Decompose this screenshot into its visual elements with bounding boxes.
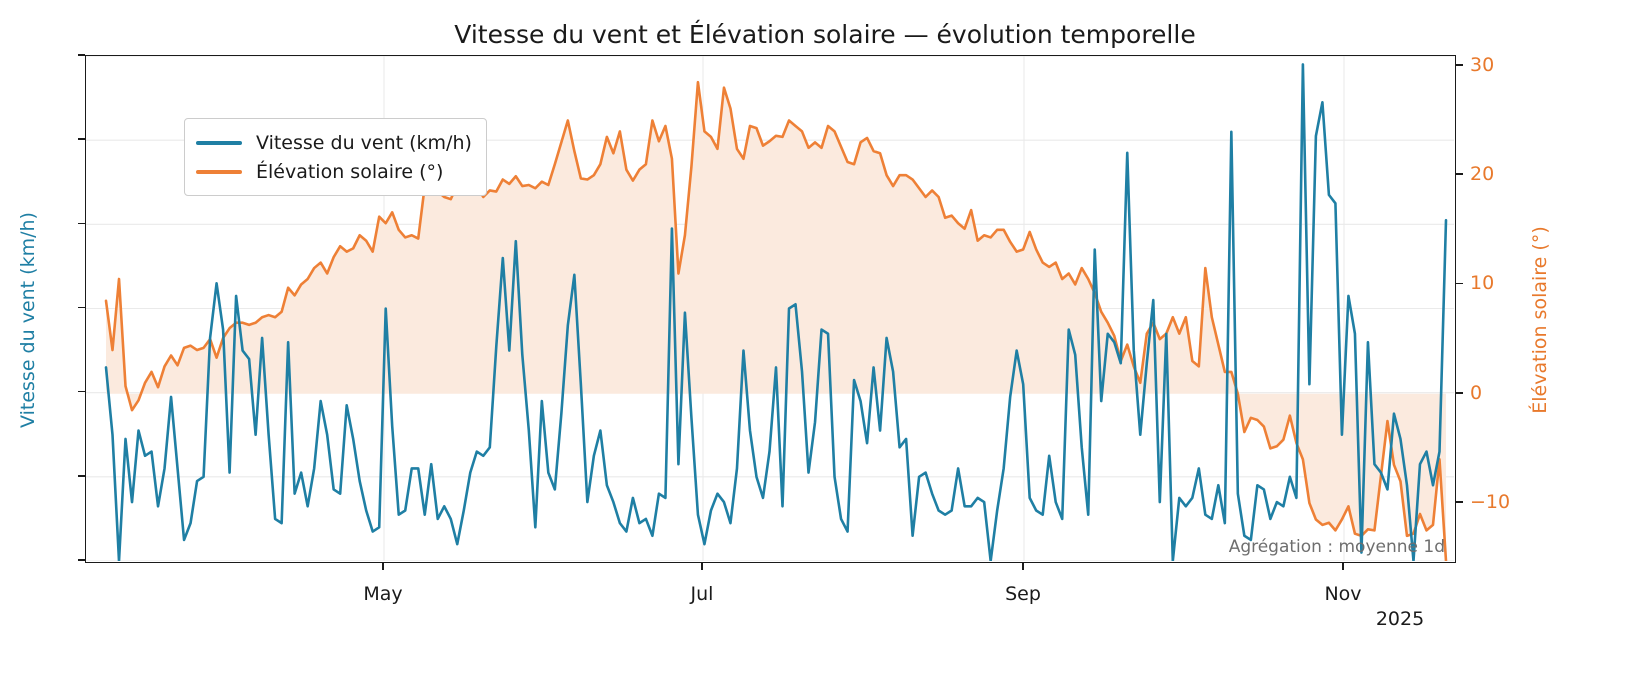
x-axis-tick-label: May [323,583,443,605]
y-axis-right-tickmark [1456,501,1463,503]
y-axis-left-tickmark [78,307,85,309]
y-axis-left-tickmark [78,559,85,561]
y-axis-left-tickmark [78,223,85,225]
chart-figure: Vitesse du vent et Élévation solaire — é… [0,0,1650,688]
y-axis-right-tickmark [1456,173,1463,175]
y-axis-right-tick-label: 10 [1470,272,1540,294]
y-axis-right-tick-label: 20 [1470,163,1540,185]
x-axis-tick-label: Sep [963,583,1083,605]
x-axis-tickmark [1342,563,1344,570]
plot-area: Vitesse du vent (km/h) Élévation solaire… [85,55,1456,563]
y-axis-right-tick-label: 0 [1470,382,1540,404]
legend-swatch-solar [196,170,242,174]
y-axis-right-tickmark [1456,64,1463,66]
x-axis-year-label: 2025 [1340,608,1460,630]
y-axis-right-tickmark [1456,392,1463,394]
y-axis-left-label: Vitesse du vent (km/h) [17,110,39,530]
legend-item-wind[interactable]: Vitesse du vent (km/h) [196,128,472,157]
y-axis-left-tickmark [78,138,85,140]
y-axis-left-tickmark [78,475,85,477]
chart-legend[interactable]: Vitesse du vent (km/h) Élévation solaire… [184,118,487,196]
y-axis-left-tickmark [78,391,85,393]
x-axis-tickmark [701,563,703,570]
legend-swatch-wind [196,141,242,145]
chart-title: Vitesse du vent et Élévation solaire — é… [0,20,1650,49]
y-axis-left-tickmark [78,54,85,56]
legend-label-solar: Élévation solaire (°) [256,161,443,183]
x-axis-tick-label: Jul [642,583,762,605]
y-axis-right-tickmark [1456,283,1463,285]
aggregation-note: Agrégation : moyenne 1d [1229,537,1445,557]
x-axis-tick-label: Nov [1283,583,1403,605]
x-axis-tickmark [1022,563,1024,570]
y-axis-right-tick-label: 30 [1470,54,1540,76]
legend-label-wind: Vitesse du vent (km/h) [256,132,472,154]
x-axis-tickmark [382,563,384,570]
y-axis-right-tick-label: −10 [1470,491,1540,513]
legend-item-solar[interactable]: Élévation solaire (°) [196,157,472,186]
